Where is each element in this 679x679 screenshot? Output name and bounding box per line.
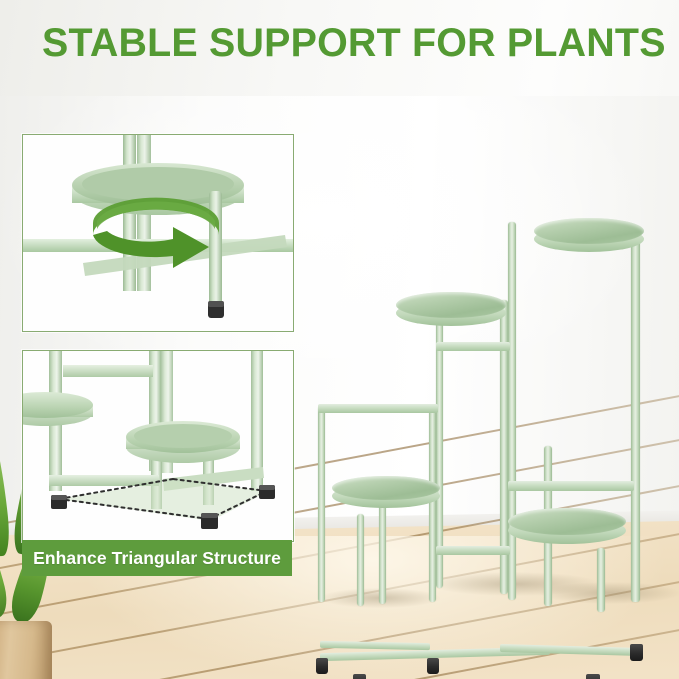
stand-foot bbox=[51, 495, 67, 509]
stand-foot bbox=[630, 644, 643, 661]
product-feature-image: STABLE SUPPORT FOR PLANTS bbox=[0, 0, 679, 679]
plant-pot bbox=[0, 621, 52, 679]
stand-bottom-rail bbox=[320, 641, 430, 650]
stand-foot bbox=[353, 674, 366, 679]
stand-post bbox=[357, 514, 364, 606]
stand-foot bbox=[201, 513, 218, 529]
stand-foot bbox=[259, 485, 275, 499]
stand-shelf bbox=[534, 218, 644, 252]
rotation-detail-illustration bbox=[23, 135, 293, 331]
feature-caption-label: Enhance Triangular Structure bbox=[33, 548, 281, 569]
stand-foot bbox=[586, 674, 600, 679]
stand-rail bbox=[436, 546, 510, 555]
stand-rail bbox=[508, 481, 634, 491]
stand-foot bbox=[427, 658, 439, 674]
stand-rail bbox=[318, 404, 438, 413]
inset-rotation-detail bbox=[22, 134, 294, 332]
stand-post bbox=[318, 406, 325, 602]
page-title: STABLE SUPPORT FOR PLANTS bbox=[42, 19, 633, 69]
stand-rail bbox=[436, 342, 510, 351]
stand-shelf bbox=[396, 292, 506, 326]
stand-foot bbox=[316, 658, 328, 674]
stand-post bbox=[631, 236, 640, 602]
feature-caption-bar: Enhance Triangular Structure bbox=[22, 540, 292, 576]
stand-shelf bbox=[332, 476, 440, 508]
stand-post bbox=[597, 548, 605, 612]
stand-shelf bbox=[508, 508, 626, 544]
stand-post bbox=[436, 296, 443, 588]
triangle-detail-illustration bbox=[23, 351, 293, 541]
inset-triangle-detail bbox=[22, 350, 294, 542]
